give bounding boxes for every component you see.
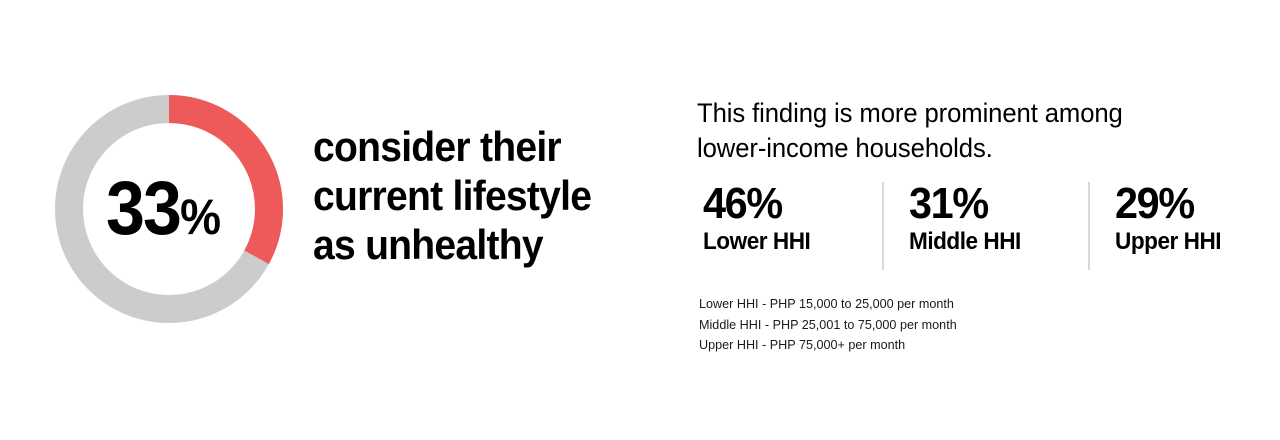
footnote-line: Middle HHI - PHP 25,001 to 75,000 per mo…: [699, 315, 1087, 336]
stat-value: 29%: [1115, 182, 1194, 227]
stats-row: 46% Lower HHI 31% Middle HHI 29% Upper H…: [697, 182, 1267, 270]
stat-divider: [1088, 182, 1090, 270]
right-panel: This finding is more prominent among low…: [697, 0, 1280, 440]
stat-upper-hhi: 29% Upper HHI: [1109, 182, 1275, 256]
footnote-line: Lower HHI - PHP 15,000 to 25,000 per mon…: [699, 294, 1087, 315]
footnotes: Lower HHI - PHP 15,000 to 25,000 per mon…: [699, 294, 1099, 356]
donut-center-label: 33%: [48, 88, 290, 330]
donut-value: 33%: [106, 171, 220, 247]
donut-chart: 33%: [48, 88, 290, 330]
stat-label: Lower HHI: [703, 229, 810, 256]
donut-value-number: 33: [106, 166, 180, 251]
left-headline: consider their current lifestyle as unhe…: [313, 122, 601, 269]
donut-percent-sign: %: [180, 189, 220, 245]
right-headline: This finding is more prominent among low…: [697, 96, 1191, 166]
stat-middle-hhi: 31% Middle HHI: [903, 182, 1069, 256]
stat-label: Middle HHI: [909, 229, 1021, 256]
stat-lower-hhi: 46% Lower HHI: [697, 182, 863, 256]
stat-value: 31%: [909, 182, 988, 227]
stat-label: Upper HHI: [1115, 229, 1221, 256]
stat-divider: [882, 182, 884, 270]
left-panel: 33% consider their current lifestyle as …: [0, 0, 640, 440]
footnote-line: Upper HHI - PHP 75,000+ per month: [699, 335, 1087, 356]
stat-value: 46%: [703, 182, 782, 227]
